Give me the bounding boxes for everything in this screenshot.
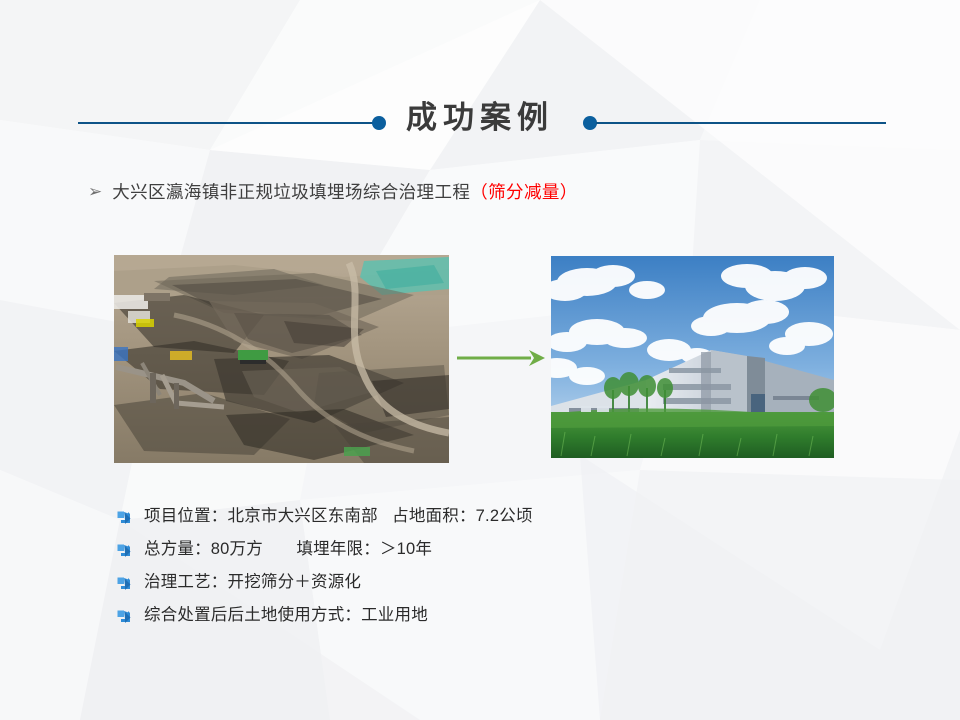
photo-after-treatment [551, 256, 834, 458]
fact-text: 治理工艺：开挖筛分＋资源化 [144, 572, 361, 592]
photo-before-treatment [114, 255, 449, 463]
arrowhead-bullet-icon: ➢ [88, 183, 102, 200]
project-facts-list: 项目位置：北京市大兴区东南部 占地面积：7.2公顷 总方量：80万方 填埋年限：… [117, 506, 837, 638]
section-heading-emphasis: （筛分减量） [470, 182, 577, 202]
arrow-bullet-icon [117, 577, 131, 591]
section-heading-main: 大兴区瀛海镇非正规垃圾填埋场综合治理工程 [112, 182, 470, 202]
list-item: 综合处置后后土地使用方式：工业用地 [117, 605, 837, 625]
page-title: 成功案例 [0, 96, 960, 140]
arrow-bullet-icon [117, 610, 131, 624]
list-item: 项目位置：北京市大兴区东南部 占地面积：7.2公顷 [117, 506, 837, 526]
section-heading: ➢ 大兴区瀛海镇非正规垃圾填埋场综合治理工程（筛分减量） [88, 179, 578, 204]
arrow-bullet-icon [117, 544, 131, 558]
slide-title-band: 成功案例 [0, 96, 960, 150]
landfill-excavation-image [114, 255, 449, 463]
section-heading-text: 大兴区瀛海镇非正规垃圾填埋场综合治理工程（筛分减量） [112, 179, 577, 204]
arrow-bullet-icon [117, 511, 131, 525]
list-item: 治理工艺：开挖筛分＋资源化 [117, 572, 837, 592]
industrial-building-image [551, 256, 834, 458]
transition-arrow-icon [455, 344, 545, 372]
fact-text: 项目位置：北京市大兴区东南部 占地面积：7.2公顷 [144, 506, 533, 526]
presentation-slide: 成功案例 ➢ 大兴区瀛海镇非正规垃圾填埋场综合治理工程（筛分减量） [0, 0, 960, 720]
list-item: 总方量：80万方 填埋年限：＞10年 [117, 539, 837, 559]
fact-text: 总方量：80万方 填埋年限：＞10年 [144, 539, 432, 559]
fact-text: 综合处置后后土地使用方式：工业用地 [144, 605, 428, 625]
